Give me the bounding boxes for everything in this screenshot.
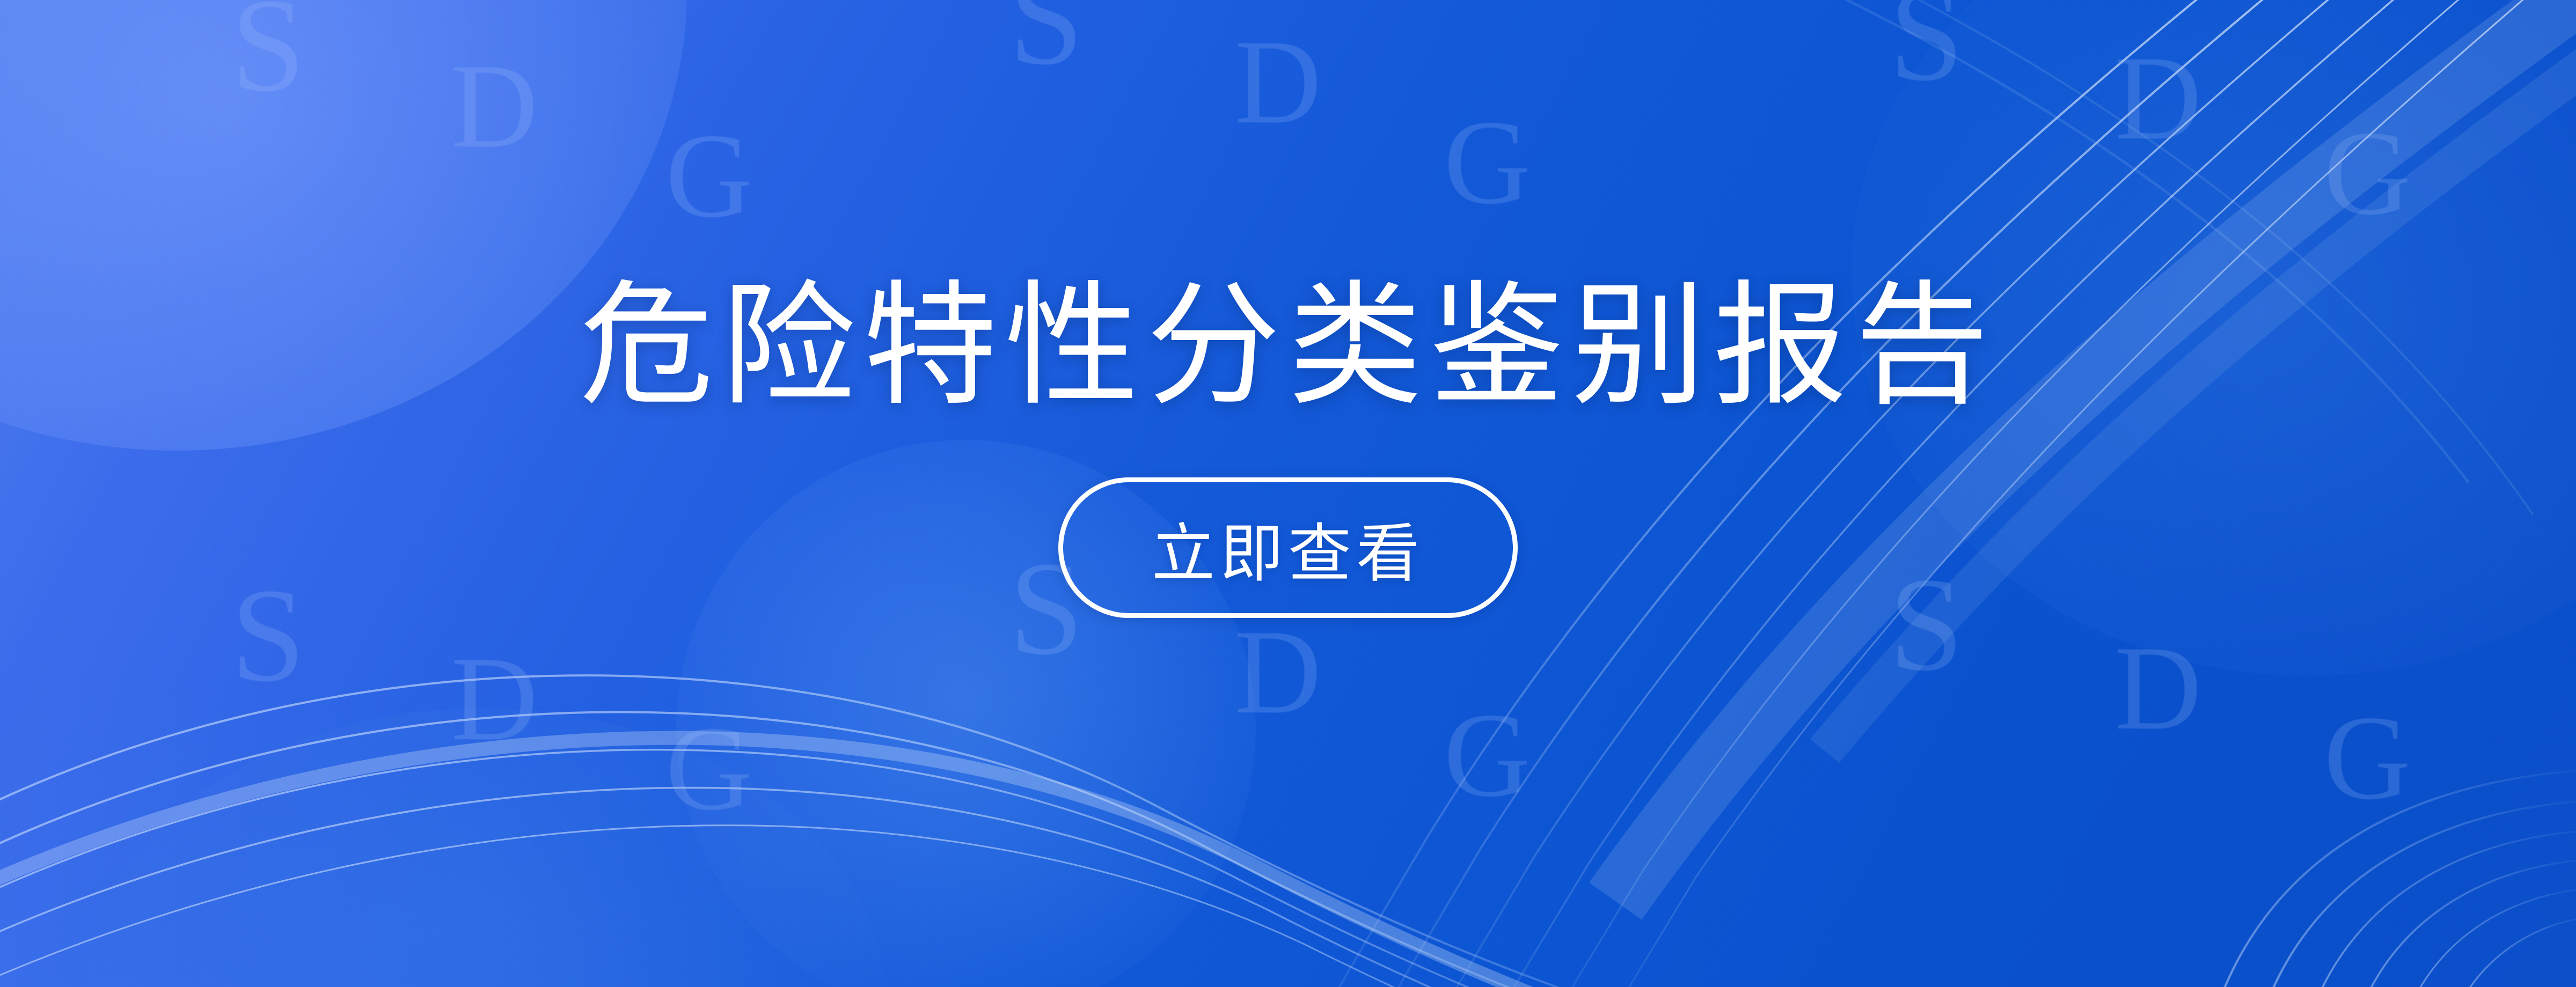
view-now-button-label: 立即查看	[1152, 502, 1424, 594]
promo-banner: SDGSDGSDGSDGSDGSDG 危险特性分类鉴别报告 立即查看	[0, 0, 2576, 987]
banner-content: 危险特性分类鉴别报告 立即查看	[0, 0, 2576, 987]
view-now-button[interactable]: 立即查看	[1058, 477, 1518, 618]
banner-title: 危险特性分类鉴别报告	[580, 271, 1996, 421]
